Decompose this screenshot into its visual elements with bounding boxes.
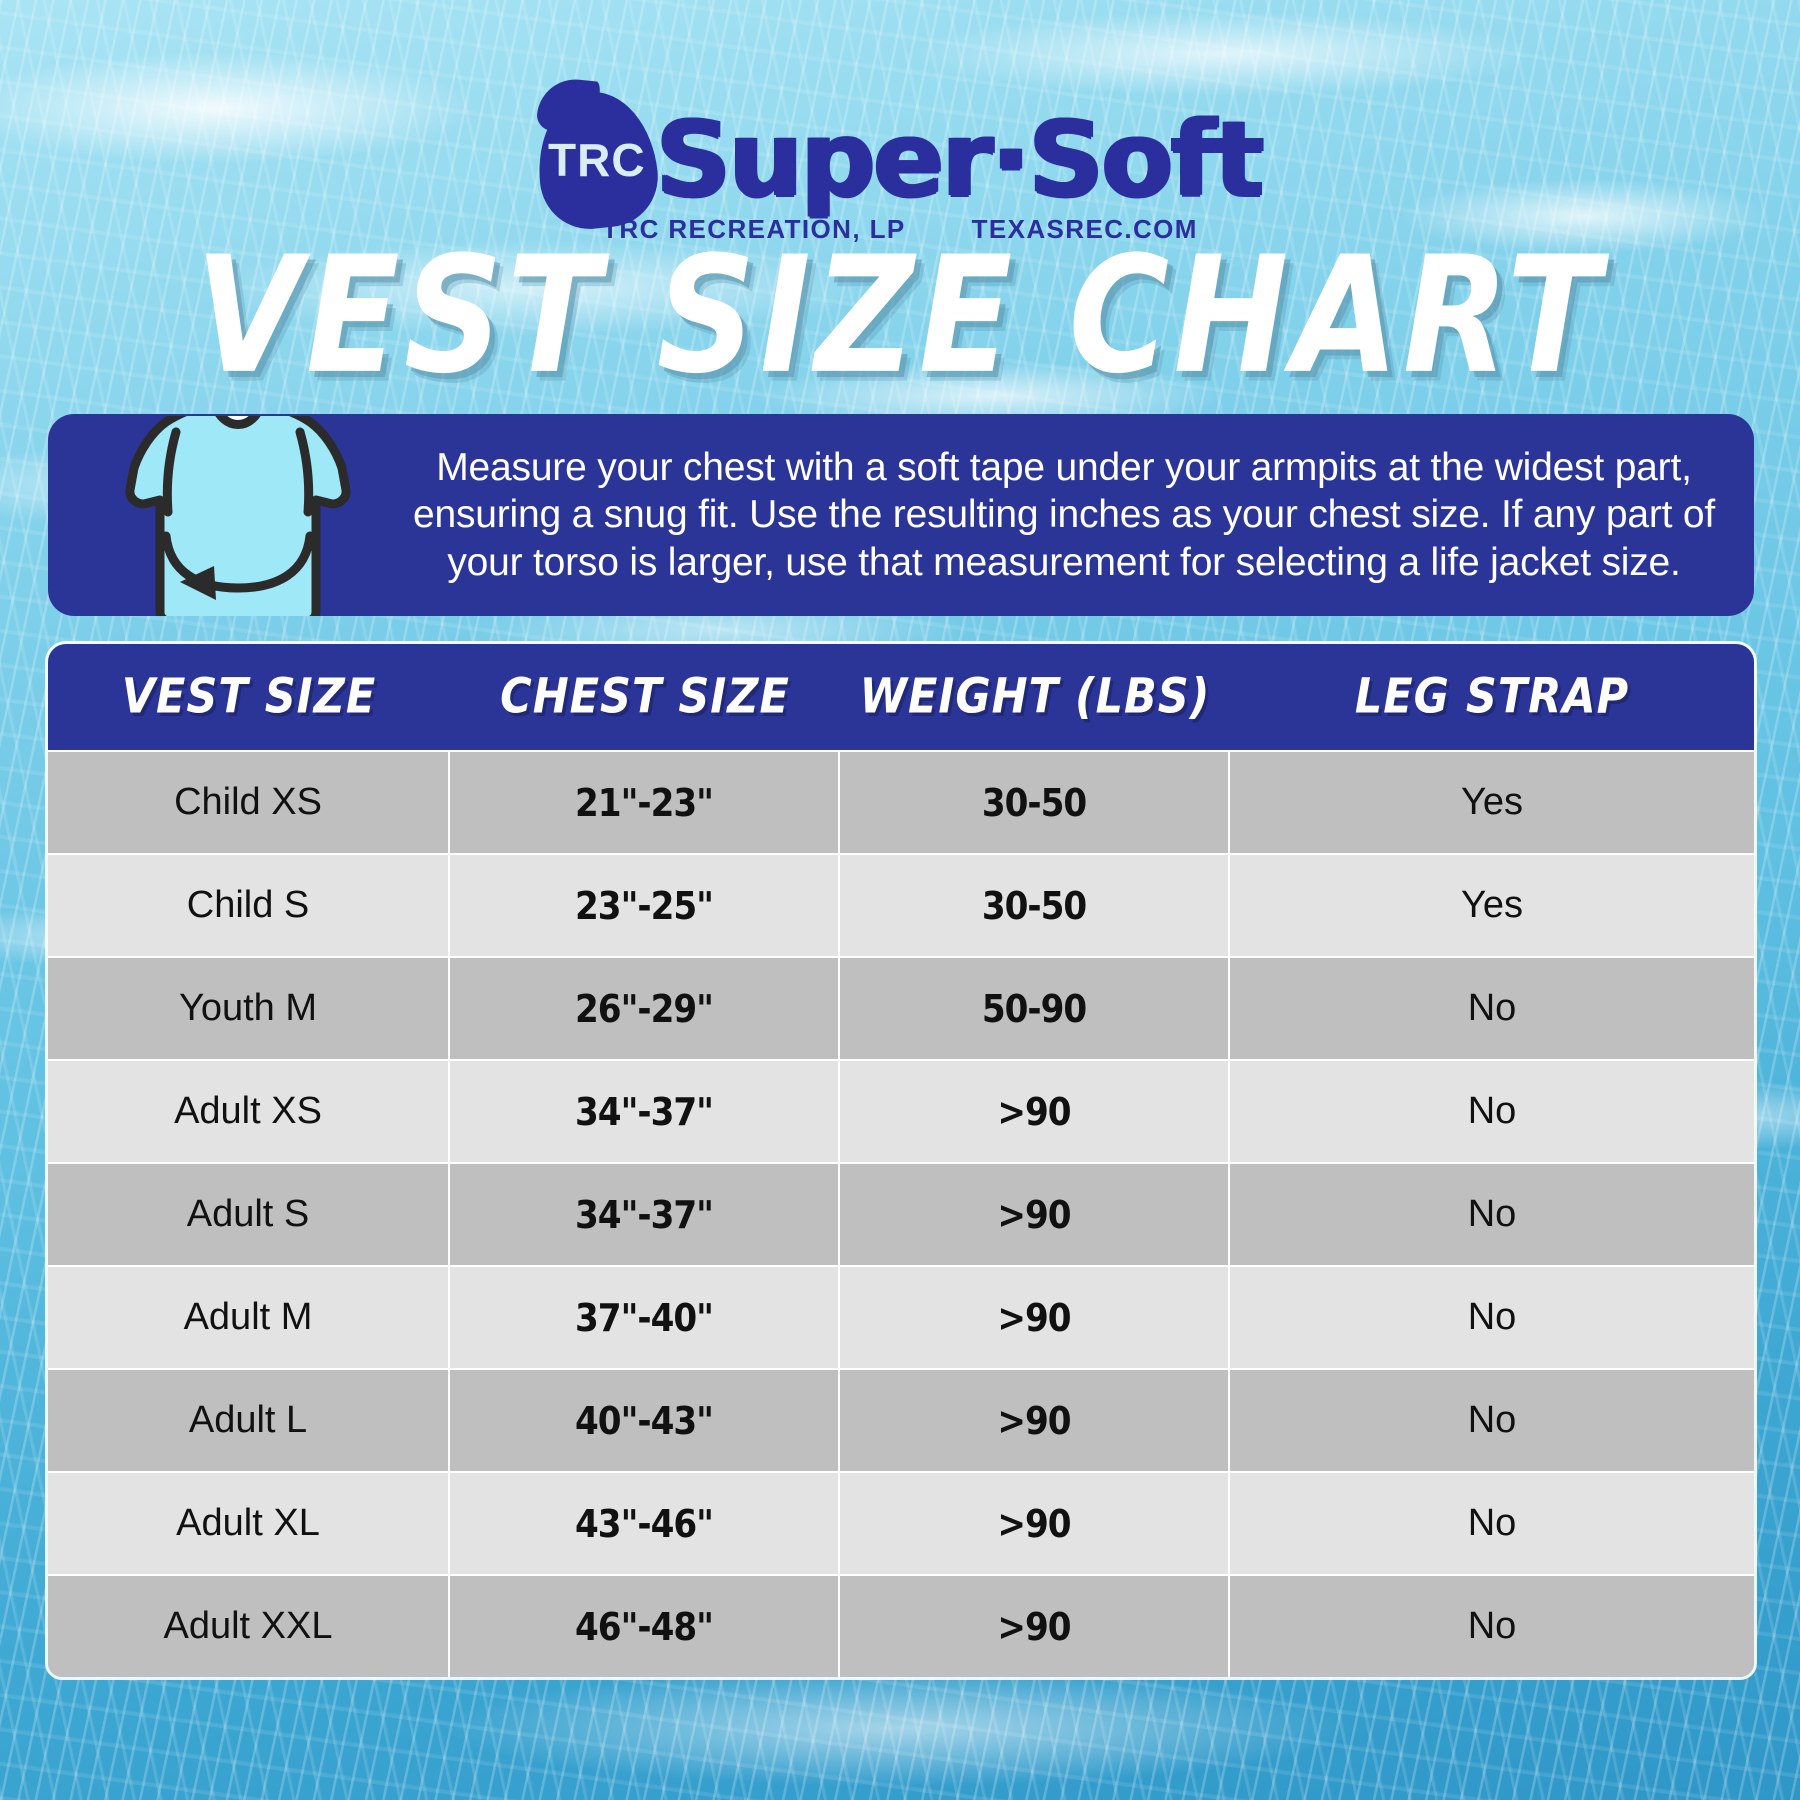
cell-vest-size: Adult M (48, 1267, 450, 1368)
logo-row: TRC Super·Soft (538, 92, 1262, 228)
tshirt-icon (88, 416, 388, 616)
cell-chest-size: 40"-43" (450, 1370, 840, 1471)
cell-weight: >90 (840, 1576, 1230, 1677)
table-row: Adult M 37"-40" >90 No (48, 1265, 1754, 1368)
water-droplet-icon: TRC (531, 86, 663, 234)
cell-vest-size: Adult L (48, 1370, 450, 1471)
cell-vest-size: Child XS (48, 752, 450, 853)
cell-weight: 30-50 (840, 855, 1230, 956)
instruction-panel: Measure your chest with a soft tape unde… (48, 414, 1754, 616)
cell-vest-size: Adult XS (48, 1061, 450, 1162)
cell-chest-size: 26"-29" (450, 958, 840, 1059)
cell-chest-size: 23"-25" (450, 855, 840, 956)
table-row: Adult S 34"-37" >90 No (48, 1162, 1754, 1265)
table-row: Child S 23"-25" 30-50 Yes (48, 853, 1754, 956)
cell-chest-size: 43"-46" (450, 1473, 840, 1574)
cell-chest-size: 46"-48" (450, 1576, 840, 1677)
table-row: Adult XL 43"-46" >90 No (48, 1471, 1754, 1574)
cell-weight: >90 (840, 1267, 1230, 1368)
cell-leg-strap: No (1230, 1061, 1754, 1162)
cell-vest-size: Adult XXL (48, 1576, 450, 1677)
tshirt-measure-illustration (48, 414, 408, 616)
instruction-text: Measure your chest with a soft tape unde… (408, 444, 1754, 587)
table-row: Youth M 26"-29" 50-90 No (48, 956, 1754, 1059)
cell-chest-size: 37"-40" (450, 1267, 840, 1368)
cell-leg-strap: No (1230, 1473, 1754, 1574)
droplet-label: TRC (548, 133, 646, 187)
cell-leg-strap: Yes (1230, 855, 1754, 956)
table-header-row: VEST SIZE CHEST SIZE WEIGHT (LBS) LEG ST… (48, 644, 1754, 750)
cell-leg-strap: No (1230, 1370, 1754, 1471)
cell-leg-strap: Yes (1230, 752, 1754, 853)
brand-wordmark: Super·Soft (656, 112, 1262, 208)
column-header-leg-strap: LEG STRAP (1230, 644, 1754, 756)
cell-chest-size: 34"-37" (450, 1164, 840, 1265)
cell-weight: >90 (840, 1061, 1230, 1162)
table-row: Child XS 21"-23" 30-50 Yes (48, 750, 1754, 853)
cell-leg-strap: No (1230, 1576, 1754, 1677)
table-row: Adult XXL 46"-48" >90 No (48, 1574, 1754, 1677)
cell-weight: >90 (840, 1473, 1230, 1574)
cell-leg-strap: No (1230, 958, 1754, 1059)
size-table: VEST SIZE CHEST SIZE WEIGHT (LBS) LEG ST… (48, 644, 1754, 1677)
table-row: Adult L 40"-43" >90 No (48, 1368, 1754, 1471)
cell-vest-size: Child S (48, 855, 450, 956)
cell-weight: >90 (840, 1370, 1230, 1471)
cell-weight: 30-50 (840, 752, 1230, 853)
cell-chest-size: 34"-37" (450, 1061, 840, 1162)
cell-chest-size: 21"-23" (450, 752, 840, 853)
cell-weight: >90 (840, 1164, 1230, 1265)
cell-vest-size: Adult S (48, 1164, 450, 1265)
table-row: Adult XS 34"-37" >90 No (48, 1059, 1754, 1162)
cell-leg-strap: No (1230, 1164, 1754, 1265)
column-header-vest-size: VEST SIZE (48, 644, 450, 756)
cell-weight: 50-90 (840, 958, 1230, 1059)
page-title: VEST SIZE CHART (0, 222, 1800, 410)
brand-logo: TRC Super·Soft TRC RECREATION, LP TEXASR… (0, 92, 1800, 228)
cell-leg-strap: No (1230, 1267, 1754, 1368)
cell-vest-size: Youth M (48, 958, 450, 1059)
column-header-chest-size: CHEST SIZE (450, 644, 840, 756)
column-header-weight: WEIGHT (LBS) (840, 644, 1230, 756)
vest-size-chart-page: TRC Super·Soft TRC RECREATION, LP TEXASR… (0, 0, 1800, 1800)
cell-vest-size: Adult XL (48, 1473, 450, 1574)
